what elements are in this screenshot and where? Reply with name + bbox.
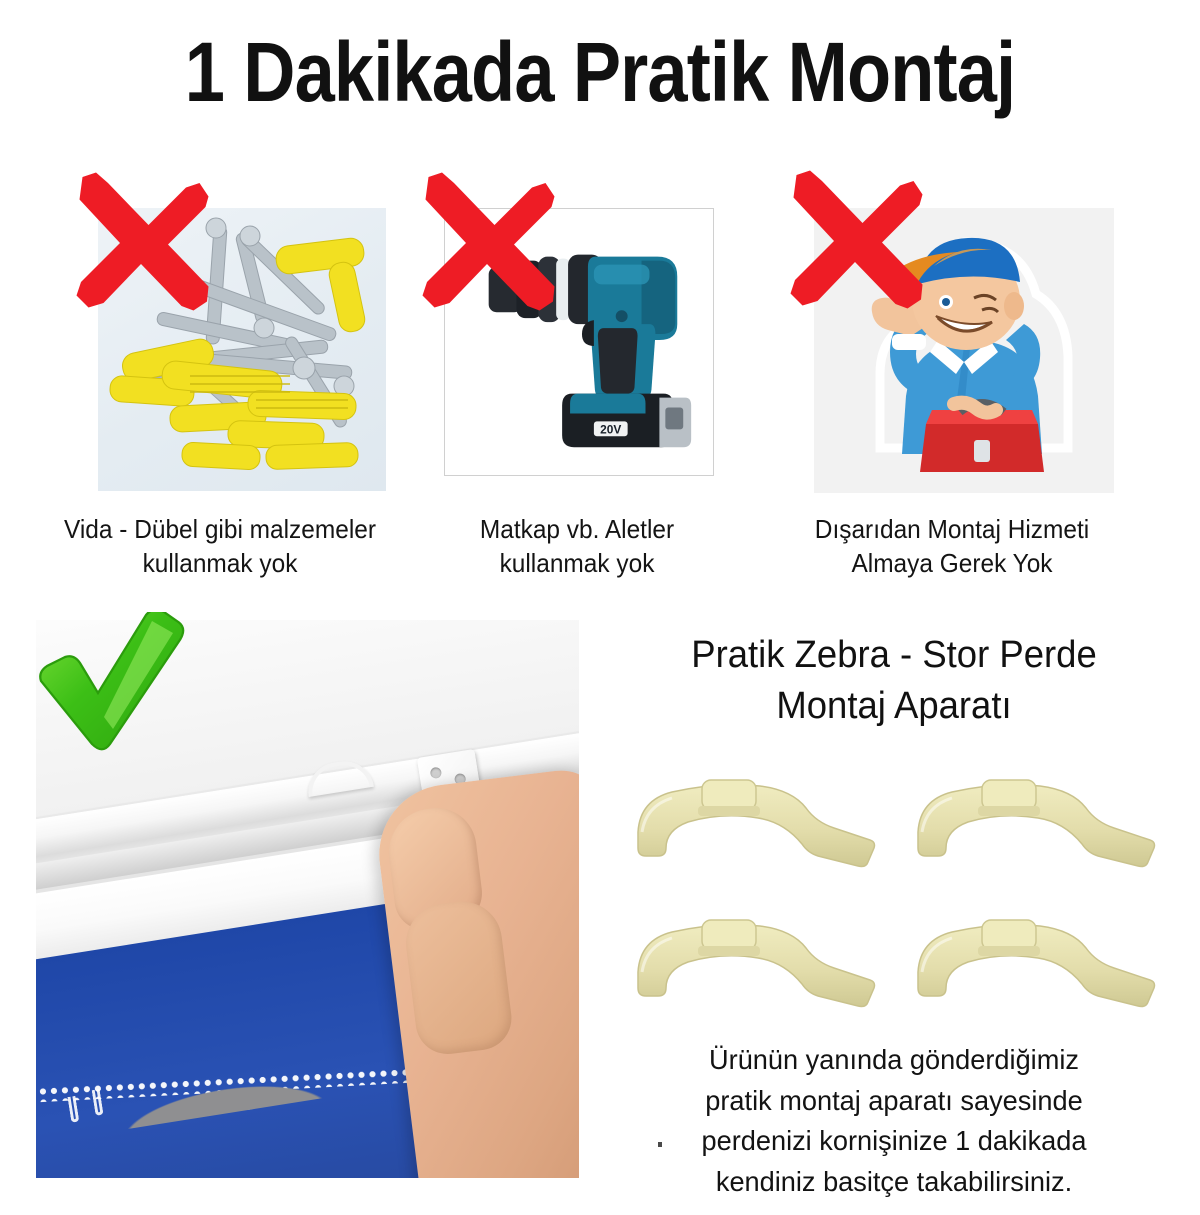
dont-item-handyman: Dışarıdan Montaj Hizmeti Almaya Gerek Yo…	[742, 160, 1162, 590]
page-title: 1 Dakikada Pratik Montaj	[84, 28, 1116, 116]
caption-line-1: Matkap vb. Aletler	[422, 512, 732, 546]
mounting-bracket-clip	[908, 898, 1158, 1010]
cordless-drill-image: 20V	[444, 208, 714, 476]
stray-dot-artifact	[658, 1142, 662, 1147]
handyman-illustration	[814, 208, 1114, 493]
photo-blind-moon-motif	[230, 1078, 267, 1115]
photo-blind-trim	[36, 1067, 413, 1104]
bracket-clip-icon	[628, 758, 878, 870]
drill-media: 20V	[444, 208, 714, 476]
mounting-bracket-clip	[908, 758, 1158, 870]
dont-item-screws: Vida - Dübel gibi malzemeler kullanmak y…	[30, 160, 410, 590]
dont-item-drill-caption: Matkap vb. Aletler kullanmak yok	[422, 512, 732, 581]
infographic-page: 1 Dakikada Pratik Montaj	[0, 0, 1200, 1215]
product-heading-line-2: Montaj Aparatı	[610, 681, 1178, 732]
screws-media	[98, 208, 386, 491]
photo-blind-motif	[67, 1096, 79, 1123]
battery-voltage-label: 20V	[600, 422, 621, 436]
product-description: Ürünün yanında gönderdiğimiz pratik mont…	[607, 1040, 1181, 1202]
caption-line-2: kullanmak yok	[41, 546, 398, 580]
bracket-clip-icon	[908, 758, 1158, 870]
caption-line-1: Dışarıdan Montaj Hizmeti	[755, 512, 1150, 546]
description-line-4: kendiniz basitçe takabilirsiniz.	[607, 1162, 1181, 1203]
photo-blind-motif	[92, 1089, 104, 1116]
dont-item-handyman-caption: Dışarıdan Montaj Hizmeti Almaya Gerek Yo…	[755, 512, 1150, 581]
product-heading-line-1: Pratik Zebra - Stor Perde	[610, 630, 1178, 681]
caption-line-2: Almaya Gerek Yok	[755, 546, 1150, 580]
caption-line-1: Vida - Dübel gibi malzemeler	[41, 512, 398, 546]
bracket-clip-icon	[908, 898, 1158, 1010]
green-check-icon	[30, 612, 190, 762]
handyman-media	[814, 208, 1114, 493]
caption-line-2: kullanmak yok	[422, 546, 732, 580]
dont-items-row: Vida - Dübel gibi malzemeler kullanmak y…	[0, 160, 1200, 590]
drill-illustration: 20V	[445, 209, 713, 475]
mounting-clips-grid	[608, 758, 1180, 1013]
handyman-cartoon-image	[814, 208, 1114, 493]
bracket-clip-icon	[628, 898, 878, 1010]
description-line-1: Ürünün yanında gönderdiğimiz	[607, 1040, 1181, 1081]
description-line-2: pratik montaj aparatı sayesinde	[607, 1081, 1181, 1122]
product-heading: Pratik Zebra - Stor Perde Montaj Aparatı	[610, 630, 1178, 731]
screws-and-wall-plugs-image	[98, 208, 386, 491]
dont-item-drill: 20V Matkap vb. Aletler kullanmak yok	[412, 160, 742, 590]
screws-illustration	[98, 208, 386, 491]
dont-item-screws-caption: Vida - Dübel gibi malzemeler kullanmak y…	[41, 512, 398, 581]
product-info-column: Pratik Zebra - Stor Perde Montaj Aparatı	[598, 630, 1190, 731]
description-line-3: perdenizi kornişinize 1 dakikada	[607, 1121, 1181, 1162]
mounting-bracket-clip	[628, 898, 878, 1010]
mounting-bracket-clip	[628, 758, 878, 870]
